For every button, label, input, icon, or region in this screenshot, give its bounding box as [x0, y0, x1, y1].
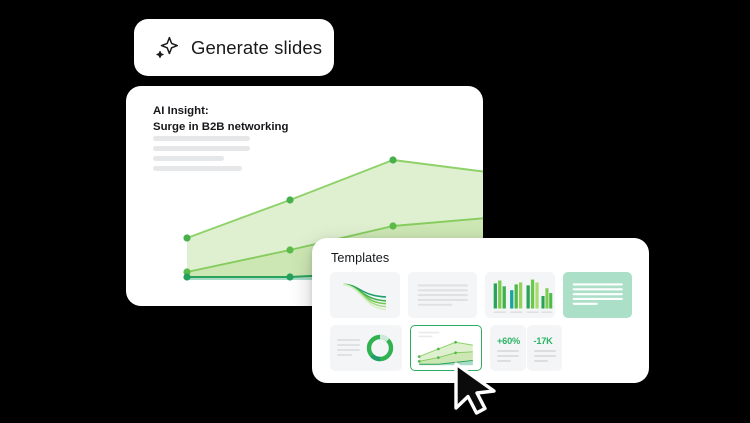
stat-card[interactable]: -17K: [527, 325, 563, 371]
template-line-fan[interactable]: [330, 272, 400, 318]
sparkle-icon: [154, 35, 180, 61]
stat-placeholder-line: [497, 355, 519, 357]
stat-placeholder-line: [497, 350, 519, 352]
template-bar-groups[interactable]: [485, 272, 555, 318]
stat-value: -17K: [534, 336, 553, 346]
bar-groups-icon: [485, 272, 555, 318]
stat-placeholder-line: [534, 355, 556, 357]
text-lines-icon: [408, 272, 478, 318]
generate-slides-button[interactable]: Generate slides: [134, 19, 334, 76]
mint-text-icon: [563, 272, 633, 318]
templates-row: [330, 272, 632, 318]
donut-text-icon: [330, 325, 402, 371]
line-fan-icon: [330, 272, 400, 318]
stat-placeholder-line: [534, 350, 556, 352]
arrow-cursor-icon: [449, 360, 505, 418]
scene-root: Generate slides AI Insight: Surge in B2B…: [0, 0, 750, 423]
templates-title: Templates: [331, 251, 389, 265]
generate-slides-label: Generate slides: [191, 37, 322, 59]
stat-placeholder-line: [534, 360, 548, 362]
template-donut-text[interactable]: [330, 325, 402, 371]
stat-value: +60%: [497, 336, 520, 346]
template-text-block[interactable]: [408, 272, 478, 318]
template-mint-text[interactable]: [563, 272, 633, 318]
